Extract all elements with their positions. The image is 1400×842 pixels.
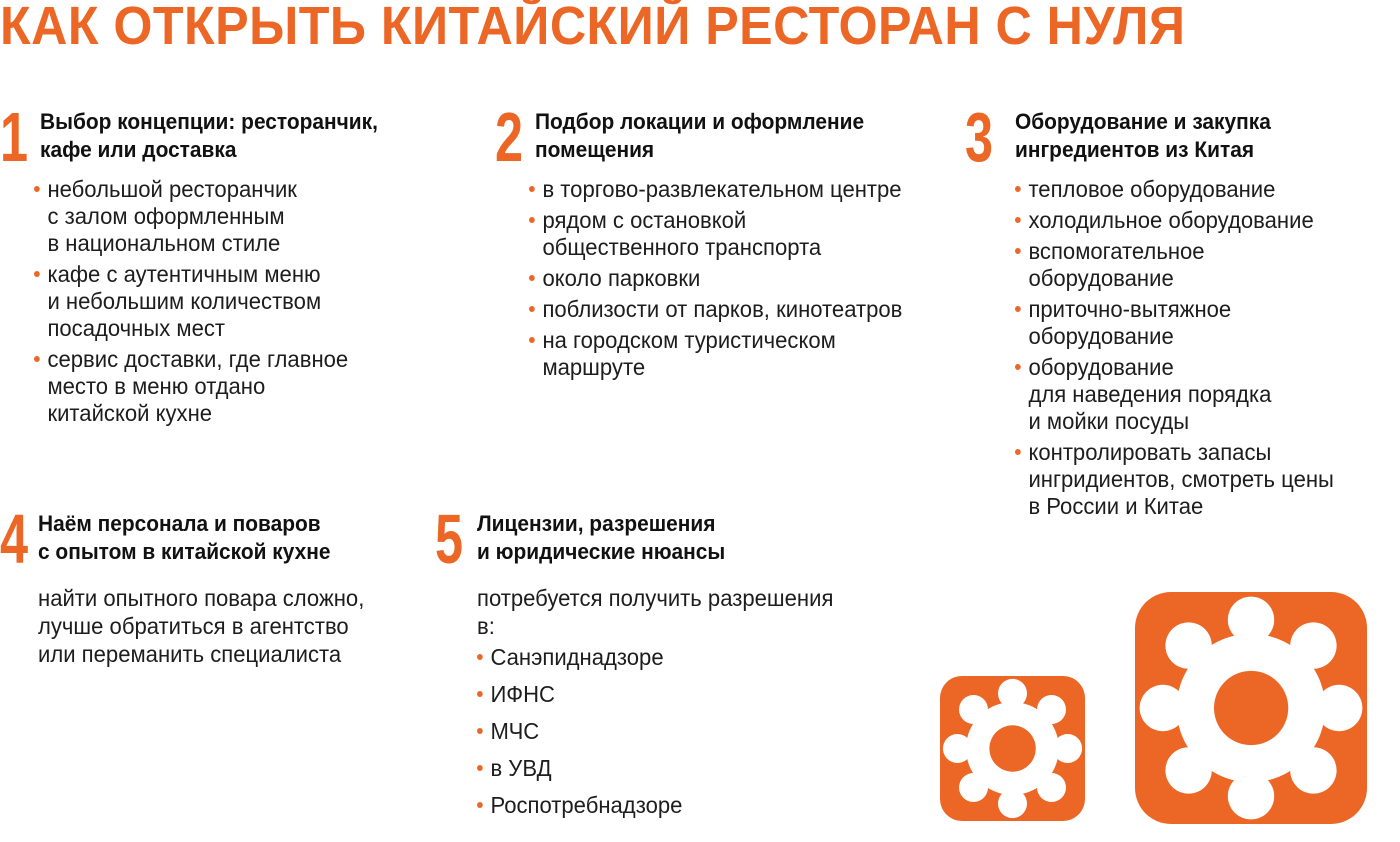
step-header-4: 4 Наём персонала и поваров с опытом в ки…: [0, 510, 420, 572]
list-item-text: в торгово-развлекательном центре: [542, 176, 901, 202]
list-item-text: около парковки: [542, 265, 700, 291]
list-item-text: поблизости от парков, кинотеатров: [542, 296, 902, 322]
step-number-2: 2: [495, 102, 522, 172]
list-item: небольшой ресторанчик с залом оформленны…: [34, 176, 443, 257]
list-item-text: в УВД: [490, 755, 551, 781]
bullet-dot-icon: [1015, 306, 1021, 312]
bullet-dot-icon: [529, 275, 535, 281]
list-item-text: приточно-вытяжное оборудование: [1028, 296, 1231, 349]
bullet-dot-icon: [1015, 248, 1021, 254]
list-item: приточно-вытяжное оборудование: [1015, 296, 1370, 350]
list-item: ИФНС: [477, 681, 840, 708]
list-item: сервис доставки, где главное место в мен…: [34, 346, 443, 427]
step-bullets-1: небольшой ресторанчик с залом оформленны…: [34, 176, 460, 427]
list-item-text: небольшой ресторанчик с залом оформленны…: [47, 176, 297, 256]
gear-tile-large: [1135, 592, 1367, 824]
bullet-dot-icon: [1015, 186, 1021, 192]
list-item-text: контролировать запасы ингридиентов, смот…: [1028, 439, 1333, 519]
infographic-page: КАК ОТКРЫТЬ КИТАЙСКИЙ РЕСТОРАН С НУЛЯ 1 …: [0, 0, 1400, 842]
gear-icon: [1135, 592, 1367, 824]
list-item-text: ИФНС: [490, 681, 555, 707]
list-item: рядом с остановкой общественного транспо…: [529, 207, 948, 261]
list-item: в УВД: [477, 755, 840, 782]
bullet-dot-icon: [477, 691, 483, 697]
step-block-1: 1 Выбор концепции: ресторанчик, кафе или…: [0, 108, 460, 431]
step-block-2: 2 Подбор локации и оформление помещения …: [495, 108, 965, 385]
list-item: холодильное оборудование: [1015, 207, 1370, 234]
step-block-3: 3 Оборудование и закупка ингредиентов из…: [965, 108, 1385, 524]
step-heading-2: Подбор локации и оформление помещения: [535, 108, 944, 164]
bullet-dot-icon: [529, 306, 535, 312]
bullet-dot-icon: [477, 728, 483, 734]
step-header-3: 3 Оборудование и закупка ингредиентов из…: [965, 108, 1385, 170]
bullet-dot-icon: [477, 802, 483, 808]
list-item: Санэпиднадзоре: [477, 644, 840, 671]
list-item: вспомогательное оборудование: [1015, 238, 1370, 292]
step-block-5: 5 Лицензии, разрешения и юридические нюа…: [435, 510, 855, 829]
step-number-1: 1: [0, 102, 27, 172]
list-item-text: сервис доставки, где главное место в мен…: [47, 346, 348, 426]
bullet-dot-icon: [34, 271, 40, 277]
list-item: в торгово-развлекательном центре: [529, 176, 948, 203]
list-item-text: оборудование для наведения порядка и мой…: [1028, 354, 1271, 434]
list-item: Роспотребнадзоре: [477, 792, 840, 819]
step-heading-5: Лицензии, разрешения и юридические нюанс…: [477, 510, 836, 566]
step-header-2: 2 Подбор локации и оформление помещения: [495, 108, 965, 170]
step-number-3: 3: [965, 102, 992, 172]
list-item-text: МЧС: [490, 718, 539, 744]
bullet-dot-icon: [529, 186, 535, 192]
bullet-dot-icon: [34, 356, 40, 362]
gear-icon: [940, 676, 1085, 821]
bullet-dot-icon: [1015, 217, 1021, 223]
step-bullets-3: тепловое оборудование холодильное оборуд…: [1015, 176, 1385, 520]
list-item: поблизости от парков, кинотеатров: [529, 296, 948, 323]
bullet-dot-icon: [529, 217, 535, 223]
gear-tile-small: [940, 676, 1085, 821]
bullet-dot-icon: [529, 337, 535, 343]
bullet-dot-icon: [34, 186, 40, 192]
list-item-text: Санэпиднадзоре: [490, 644, 663, 670]
list-item-text: тепловое оборудование: [1028, 176, 1275, 202]
step-header-5: 5 Лицензии, разрешения и юридические нюа…: [435, 510, 855, 572]
list-item: контролировать запасы ингридиентов, смот…: [1015, 439, 1370, 520]
list-item: тепловое оборудование: [1015, 176, 1370, 203]
list-item-text: на городском туристическом маршруте: [542, 327, 835, 380]
step-heading-1: Выбор концепции: ресторанчик, кафе или д…: [40, 108, 439, 164]
list-item-text: холодильное оборудование: [1028, 207, 1313, 233]
step-bullets-2: в торгово-развлекательном центре рядом с…: [529, 176, 965, 381]
step-heading-4: Наём персонала и поваров с опытом в кита…: [38, 510, 401, 566]
bullet-dot-icon: [477, 765, 483, 771]
list-item-text: Роспотребнадзоре: [490, 792, 682, 818]
step-number-4: 4: [0, 504, 27, 574]
bullet-dot-icon: [1015, 449, 1021, 455]
list-item: кафе с аутентичным меню и небольшим коли…: [34, 261, 443, 342]
step-header-1: 1 Выбор концепции: ресторанчик, кафе или…: [0, 108, 460, 170]
page-title: КАК ОТКРЫТЬ КИТАЙСКИЙ РЕСТОРАН С НУЛЯ: [0, 0, 1185, 58]
list-item: оборудование для наведения порядка и мой…: [1015, 354, 1370, 435]
step-number-5: 5: [435, 504, 462, 574]
step-heading-3: Оборудование и закупка ингредиентов из К…: [1015, 108, 1367, 164]
step-body-5: потребуется получить разрешения в:: [477, 584, 840, 640]
step-block-4: 4 Наём персонала и поваров с опытом в ки…: [0, 510, 420, 668]
list-item-text: рядом с остановкой общественного транспо…: [542, 207, 821, 260]
list-item-text: кафе с аутентичным меню и небольшим коли…: [47, 261, 321, 341]
list-item: МЧС: [477, 718, 840, 745]
list-item: около парковки: [529, 265, 948, 292]
bullet-dot-icon: [1015, 364, 1021, 370]
step-body-4: найти опытного повара сложно, лучше обра…: [38, 584, 405, 668]
bullet-dot-icon: [477, 654, 483, 660]
list-item-text: вспомогательное оборудование: [1028, 238, 1204, 291]
list-item: на городском туристическом маршруте: [529, 327, 948, 381]
step-bullets-5: Санэпиднадзоре ИФНС МЧС в УВД Роспотребн…: [477, 644, 855, 819]
